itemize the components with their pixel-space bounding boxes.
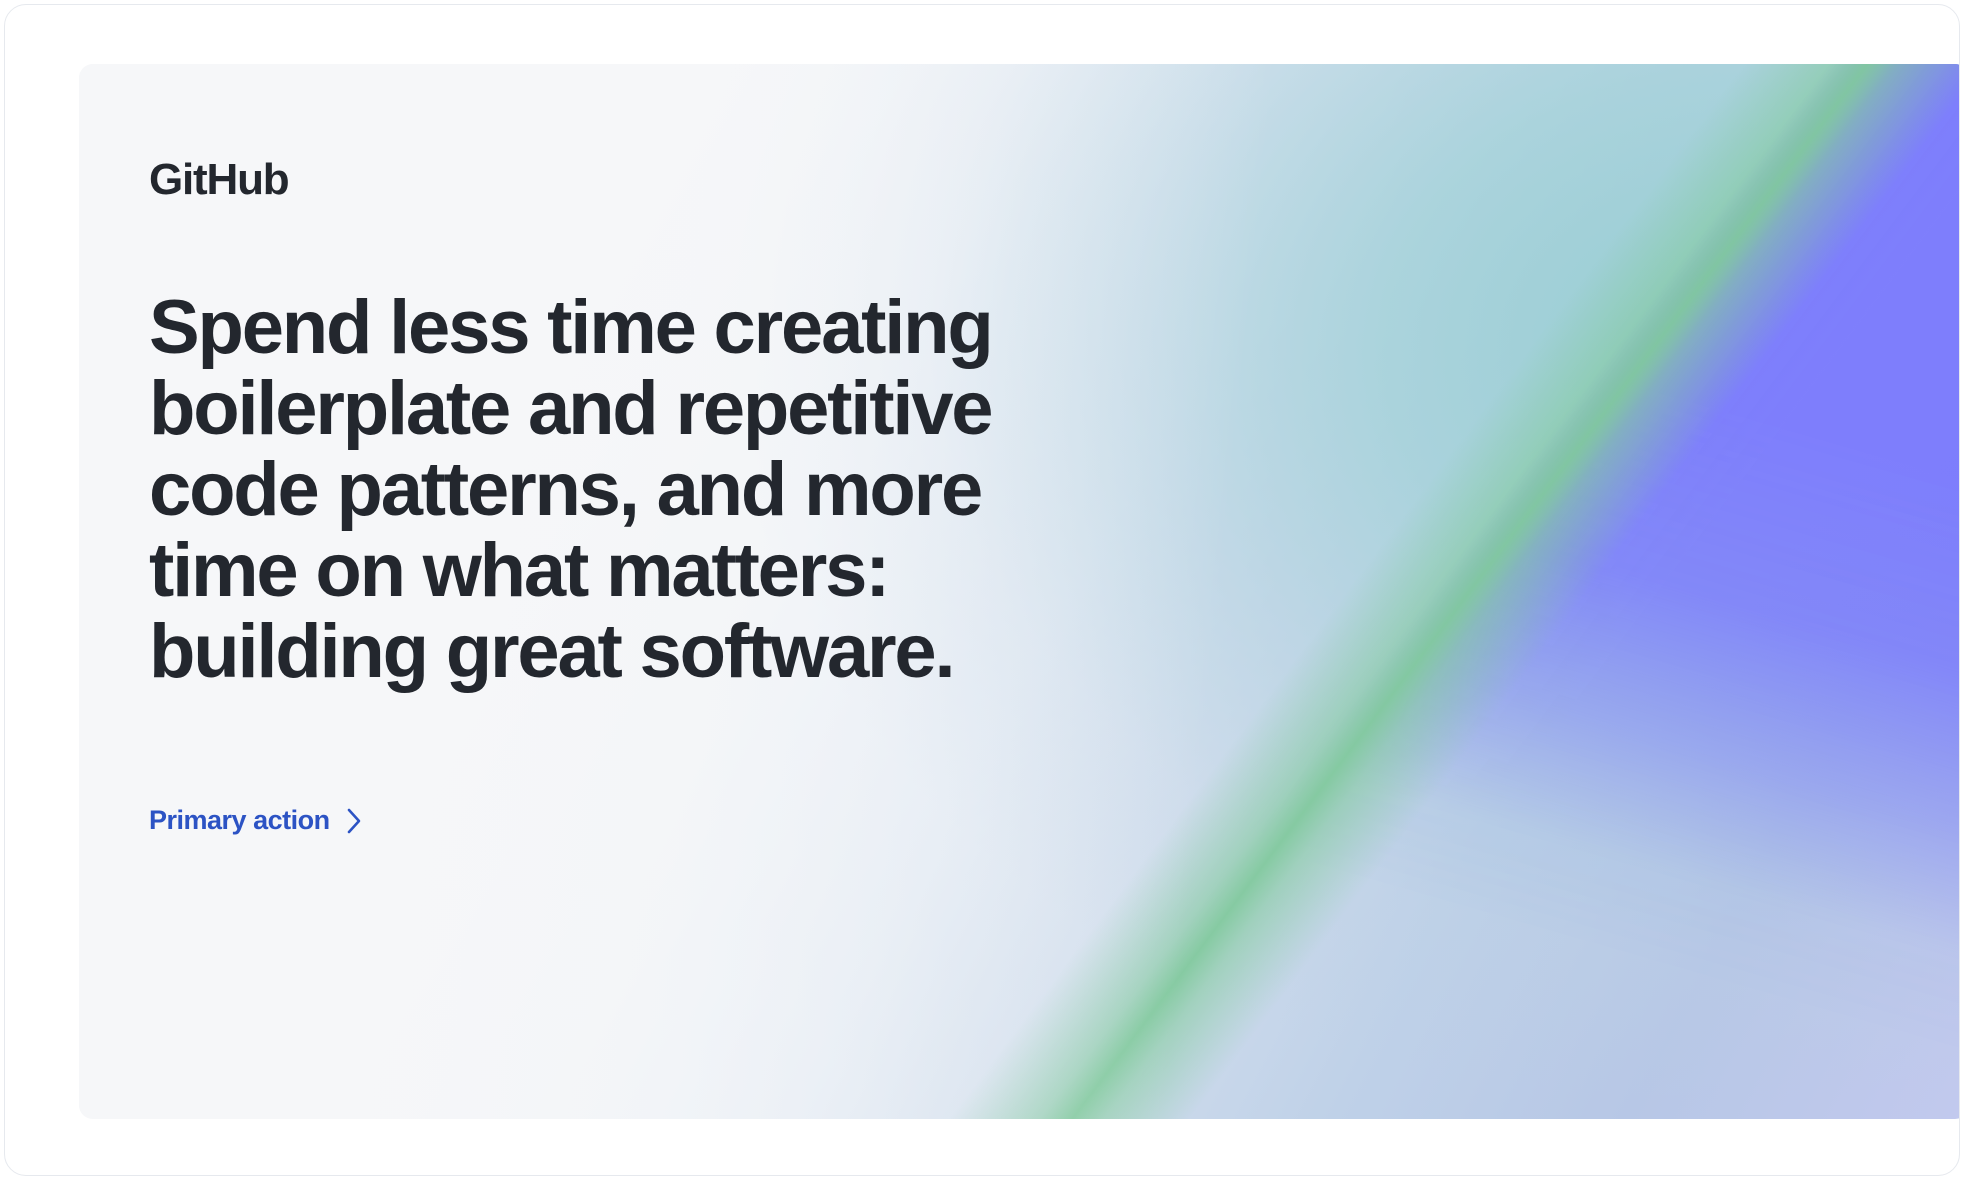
github-wordmark: GitHub — [149, 158, 1179, 202]
heading-line-2: boilerplate and repetitive — [149, 369, 979, 450]
hero-card: GitHub Spend less time creating boilerpl… — [79, 64, 1960, 1119]
heading-line-4: time on what matters: — [149, 531, 979, 612]
chevron-right-icon — [346, 808, 363, 834]
heading-line-3: code patterns, and more — [149, 450, 979, 531]
viewport-frame: GitHub Spend less time creating boilerpl… — [4, 4, 1960, 1176]
heading-line-1: Spend less time creating — [149, 288, 979, 369]
primary-action-link[interactable]: Primary action — [149, 805, 363, 836]
hero-heading: Spend less time creating boilerplate and… — [149, 288, 979, 693]
heading-line-5: building great software. — [149, 612, 979, 693]
primary-action-label: Primary action — [149, 805, 330, 836]
card-content: GitHub Spend less time creating boilerpl… — [79, 64, 1179, 836]
